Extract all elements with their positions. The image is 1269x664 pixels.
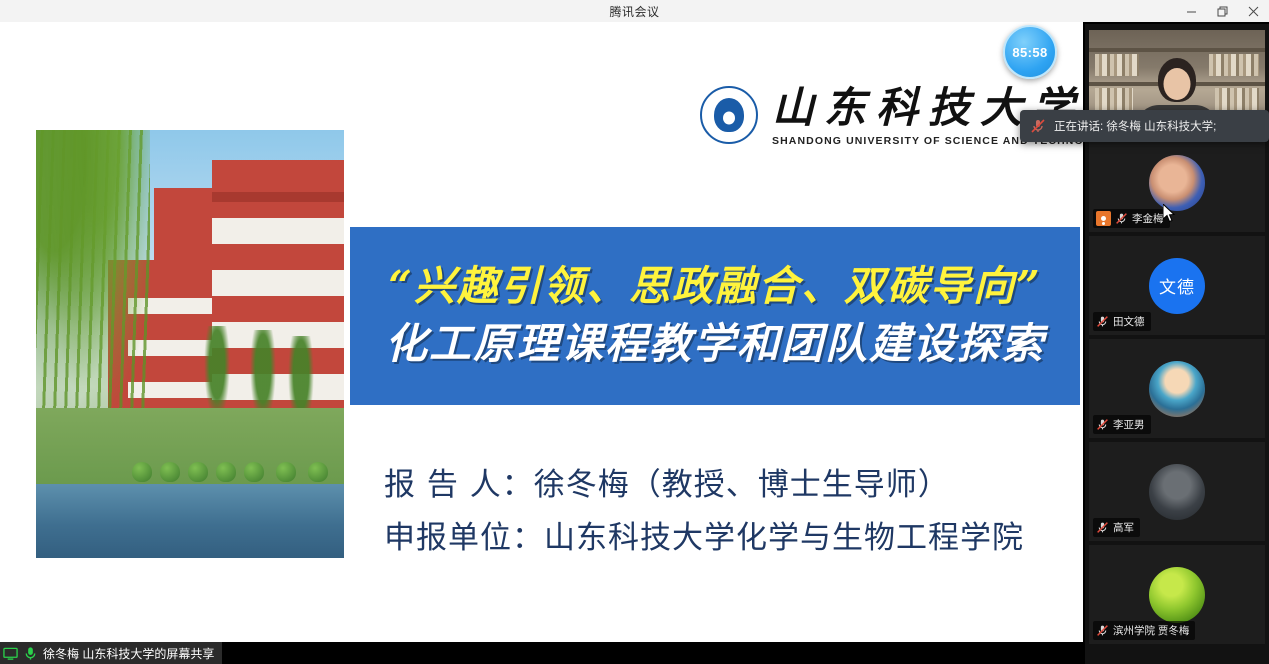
mic-muted-icon [1096,418,1109,431]
participant-name: 滨州学院 贾冬梅 [1113,623,1189,638]
monitor-icon [3,646,18,661]
banner-line-1: “兴趣引领、思政融合、双碳导向” [388,261,1041,312]
participant-tile-1[interactable]: 李金梅 [1089,133,1265,232]
participant-name: 李亚男 [1113,417,1145,432]
participant-nameplate: 滨州学院 贾冬梅 [1093,621,1195,640]
avatar [1149,155,1205,211]
presenter-info: 报 告 人：徐冬梅（教授、博士生导师） 申报单位：山东科技大学化学与生物工程学院 [384,459,1024,557]
host-badge-icon [1096,211,1111,226]
mic-muted-icon [1096,315,1109,328]
avatar: 文德 [1149,258,1205,314]
banner-line-2: 化工原理课程教学和团队建设探索 [385,318,1045,371]
participant-name: 田文德 [1113,314,1145,329]
pond [36,484,344,558]
participant-tile-4[interactable]: 高军 [1089,442,1265,541]
participant-tile-2[interactable]: 文德 田文德 [1089,236,1265,335]
participant-nameplate: 高军 [1093,518,1140,537]
screen-share-statusbar: 徐冬梅 山东科技大学的屏幕共享 [0,642,222,664]
avatar [1149,464,1205,520]
university-seal-icon [700,86,758,144]
participant-name: 李金梅 [1132,211,1164,226]
window-titlebar: 腾讯会议 [0,0,1269,22]
window-controls [1176,0,1269,22]
microphone-icon [23,646,38,661]
restore-icon[interactable] [1207,0,1238,22]
active-speaker-toast: 正在讲话: 徐冬梅 山东科技大学; [1020,110,1269,142]
presentation-slide: 山东科技大学 SHANDONG UNIVERSITY OF SCIENCE AN… [0,22,1083,642]
participant-face [1164,68,1191,100]
active-speaker-text: 正在讲话: 徐冬梅 山东科技大学; [1054,118,1216,134]
presenter-affiliation-line: 申报单位：山东科技大学化学与生物工程学院 [384,512,1024,557]
meeting-timer-badge[interactable]: 85:58 [1003,25,1057,79]
avatar [1149,361,1205,417]
participant-nameplate: 李金梅 [1093,209,1170,228]
tencent-meeting-window: 腾讯会议 [0,0,1269,664]
minimize-icon[interactable] [1176,0,1207,22]
participant-tile-3[interactable]: 李亚男 [1089,339,1265,438]
presenter-name-line: 报 告 人：徐冬梅（教授、博士生导师） [384,459,1024,504]
participant-nameplate: 李亚男 [1093,415,1151,434]
mic-muted-icon [1096,521,1109,534]
screen-share-text: 徐冬梅 山东科技大学的屏幕共享 [43,645,214,662]
mic-muted-icon [1096,624,1109,637]
window-title: 腾讯会议 [609,3,659,20]
campus-building-photo [36,130,344,558]
shared-screen-stage[interactable]: 山东科技大学 SHANDONG UNIVERSITY OF SCIENCE AN… [0,22,1083,642]
avatar [1149,567,1205,623]
participant-tile-5[interactable]: 滨州学院 贾冬梅 [1089,545,1265,644]
participant-name: 高军 [1113,520,1134,535]
speaking-mic-icon [1030,118,1046,134]
mic-muted-icon [1115,212,1128,225]
meeting-timer-value: 85:58 [1012,45,1047,60]
avatar-initials: 文德 [1159,273,1195,298]
participant-nameplate: 田文德 [1093,312,1151,331]
close-icon[interactable] [1238,0,1269,22]
slide-title-banner: “兴趣引领、思政融合、双碳导向” 化工原理课程教学和团队建设探索 [350,227,1080,405]
